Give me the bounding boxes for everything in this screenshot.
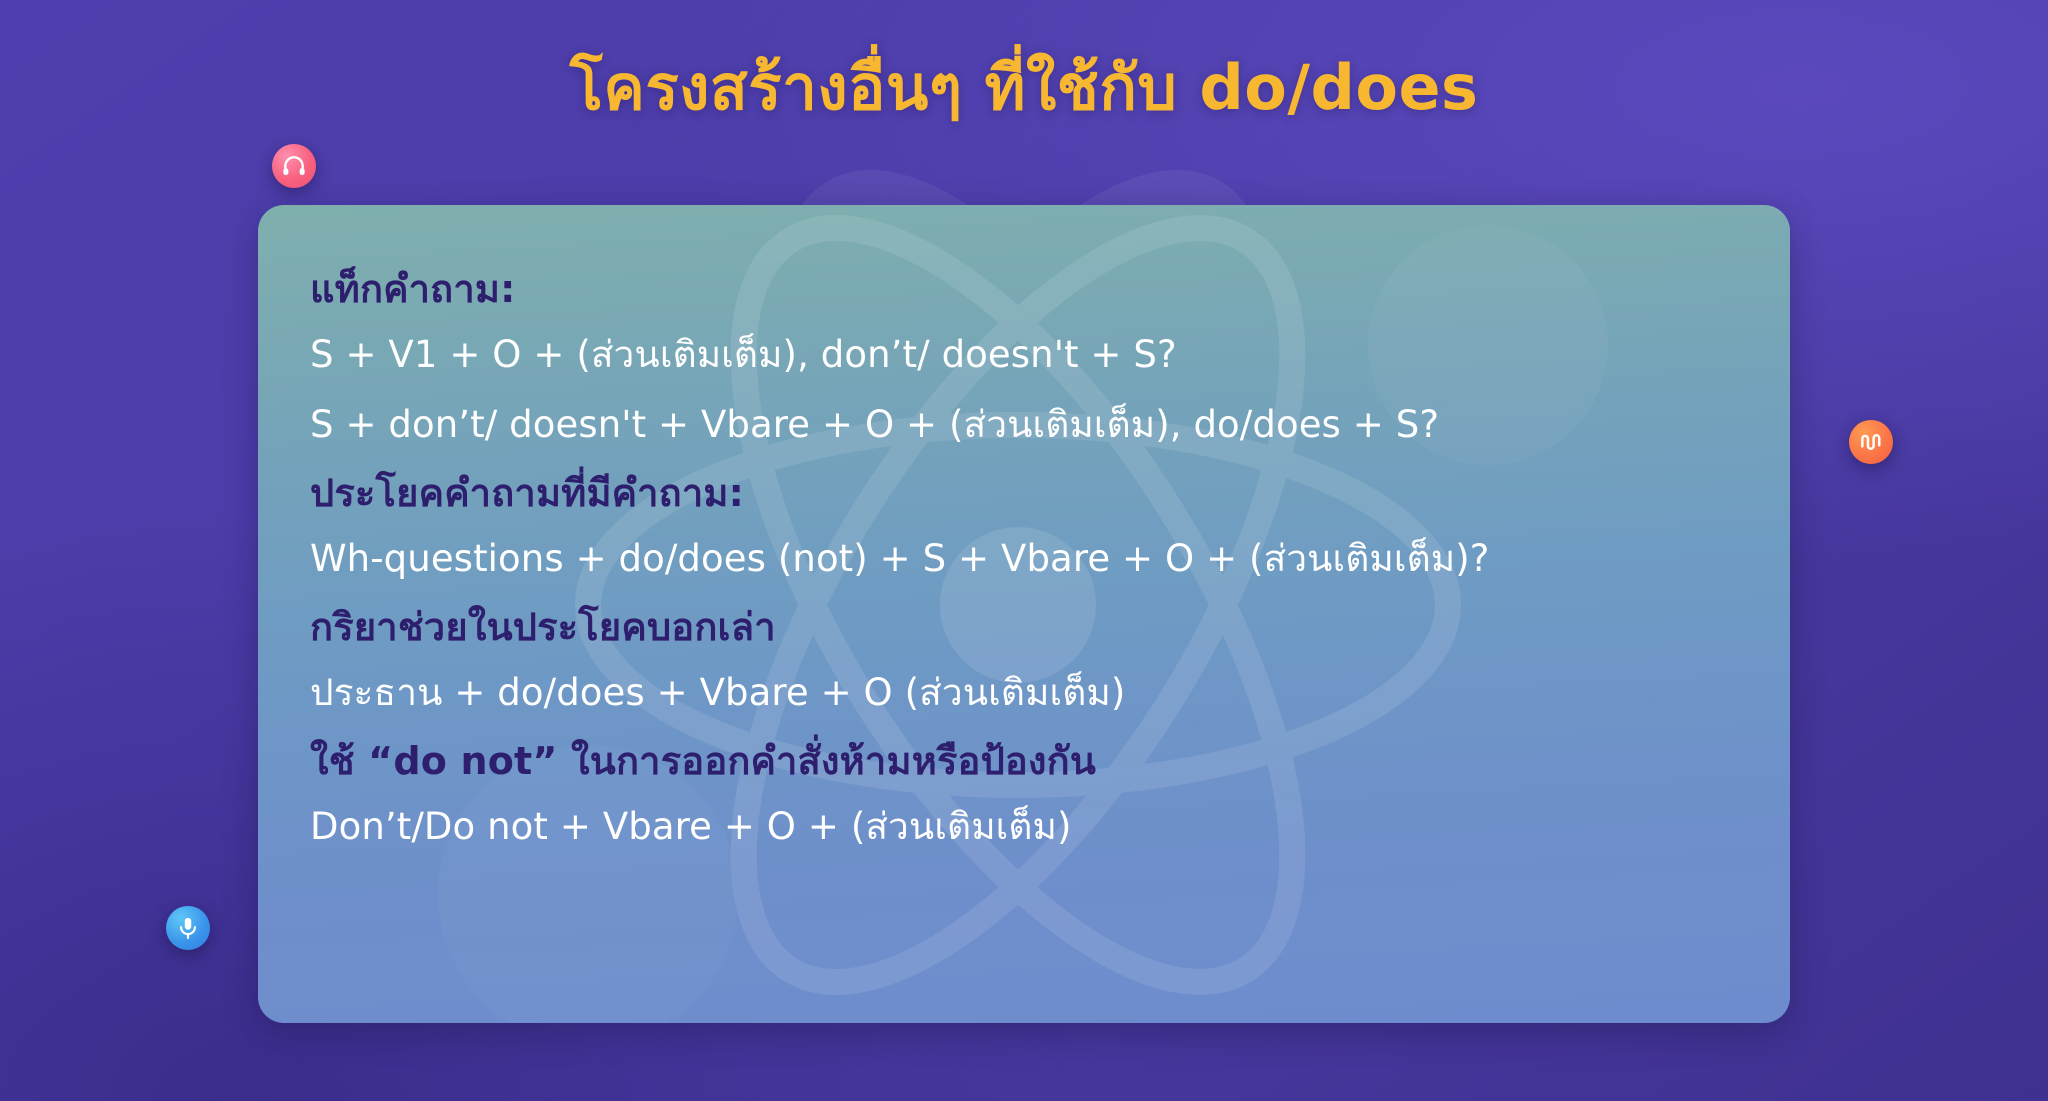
content-line: ประธาน + do/does + Vbare + O (ส่วนเติมเต… — [310, 659, 1756, 729]
content-line: S + don’t/ doesn't + Vbare + O + (ส่วนเต… — [310, 391, 1756, 461]
waveform-icon[interactable] — [1849, 420, 1893, 464]
content-line: แท็กคำถาม: — [310, 257, 1756, 321]
content-line: S + V1 + O + (ส่วนเติมเต็ม), don’t/ does… — [310, 321, 1756, 391]
headphones-icon[interactable] — [272, 144, 316, 188]
content-line: Wh-questions + do/does (not) + S + Vbare… — [310, 525, 1756, 595]
content-line: ประโยคคำถามที่มีคำถาม: — [310, 461, 1756, 525]
content-line: Don’t/Do not + Vbare + O + (ส่วนเติมเต็ม… — [310, 793, 1756, 863]
content-line: ใช้ “do not” ในการออกคำสั่งห้ามหรือป้องก… — [310, 729, 1756, 793]
microphone-icon[interactable] — [166, 906, 210, 950]
content-line: กริยาช่วยในประโยคบอกเล่า — [310, 595, 1756, 659]
page-title: โครงสร้างอื่นๆ ที่ใช้กับ do/does — [0, 52, 2048, 123]
content-line-list: แท็กคำถาม: S + V1 + O + (ส่วนเติมเต็ม), … — [292, 257, 1756, 863]
content-card: แท็กคำถาม: S + V1 + O + (ส่วนเติมเต็ม), … — [258, 205, 1790, 1023]
